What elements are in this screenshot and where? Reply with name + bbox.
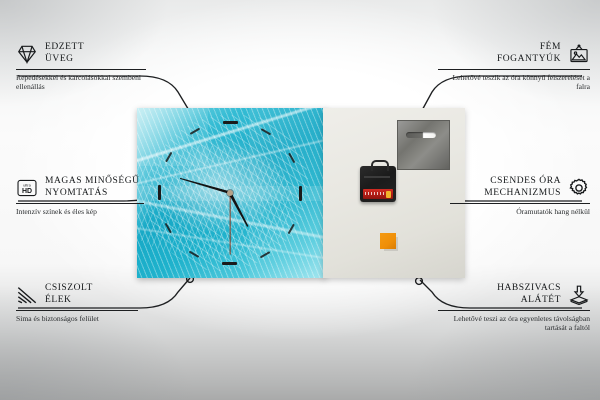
battery-label: [365, 192, 385, 195]
quartz-mechanism-box: [360, 166, 396, 202]
callout-tempered-glass: EDZETTÜVEG Repedésekkel és karcolásokkal…: [16, 42, 164, 92]
press-pad-icon: [568, 284, 590, 306]
clock-center-cap: [227, 190, 233, 196]
callout-header: CSENDES ÓRAMECHANIZMUS: [444, 176, 590, 199]
svg-text:ultra: ultra: [23, 183, 31, 187]
callout-divider: [16, 203, 144, 204]
callout-title: FÉMFOGANTYÚK: [497, 42, 561, 65]
callout-description: Sima és biztonságos felület: [16, 314, 152, 324]
hanger-slot: [406, 132, 436, 138]
callout-header: CSISZOLTÉLEK: [16, 283, 152, 306]
callout-divider: [438, 69, 590, 70]
callout-divider: [16, 310, 138, 311]
callout-title: CSENDES ÓRAMECHANIZMUS: [484, 176, 561, 199]
callout-foam-pad: HABSZIVACSALÁTÉT Lehetővé teszi az óra e…: [432, 283, 590, 333]
callout-header: ultra HD MAGAS MINŐSÉGŰNYOMTATÁS: [16, 176, 158, 199]
callout-header: HABSZIVACSALÁTÉT: [432, 283, 590, 306]
callout-metal-handles: FÉMFOGANTYÚK Lehetővé teszik az óra könn…: [438, 42, 590, 92]
ultra-hd-icon: ultra HD: [16, 177, 38, 199]
callout-description: Repedésekkel és karcolásokkal szembeni e…: [16, 73, 164, 92]
picture-hanger-icon: [568, 43, 590, 65]
callout-title: EDZETTÜVEG: [45, 42, 84, 65]
clock-front-face: [137, 108, 326, 278]
callout-description: Óramutatók hang nélkül: [444, 207, 590, 217]
clock-second-hand: [229, 193, 230, 255]
callout-header: FÉMFOGANTYÚK: [438, 42, 590, 65]
gear-icon: [568, 177, 590, 199]
polished-edges-icon: [16, 284, 38, 306]
callout-title: MAGAS MINŐSÉGŰNYOMTATÁS: [45, 176, 140, 199]
callout-divider: [438, 310, 590, 311]
callout-title: CSISZOLTÉLEK: [45, 283, 93, 306]
callout-polished-edges: CSISZOLTÉLEK Sima és biztonságos felület: [16, 283, 152, 323]
mechanism-loop: [371, 160, 389, 171]
callout-divider: [16, 69, 146, 70]
callout-divider: [450, 203, 590, 204]
callout-silent-clock-mechanism: CSENDES ÓRAMECHANIZMUS Óramutatók hang n…: [444, 176, 590, 216]
callout-description: Lehetővé teszik az óra könnyű felszerelé…: [438, 73, 590, 92]
svg-text:HD: HD: [22, 188, 32, 195]
callout-header: EDZETTÜVEG: [16, 42, 164, 65]
metal-hanger-plate: [397, 120, 450, 170]
product-feature-infographic: EDZETTÜVEG Repedésekkel és karcolásokkal…: [0, 0, 600, 400]
callout-title: HABSZIVACSALÁTÉT: [497, 283, 561, 306]
callout-description: Lehetővé teszi az óra egyenletes távolsá…: [432, 314, 590, 333]
foam-spacer-pad: [380, 233, 396, 249]
diamond-icon: [16, 43, 38, 65]
callout-description: Intenzív színek és éles kép: [16, 207, 158, 217]
connector-dot-foam-pad: [416, 278, 423, 285]
battery: [363, 189, 393, 199]
callout-high-quality-print: ultra HD MAGAS MINŐSÉGŰNYOMTATÁS Intenzí…: [16, 176, 158, 216]
mechanism-slit: [364, 176, 390, 178]
product-image: [137, 108, 465, 278]
